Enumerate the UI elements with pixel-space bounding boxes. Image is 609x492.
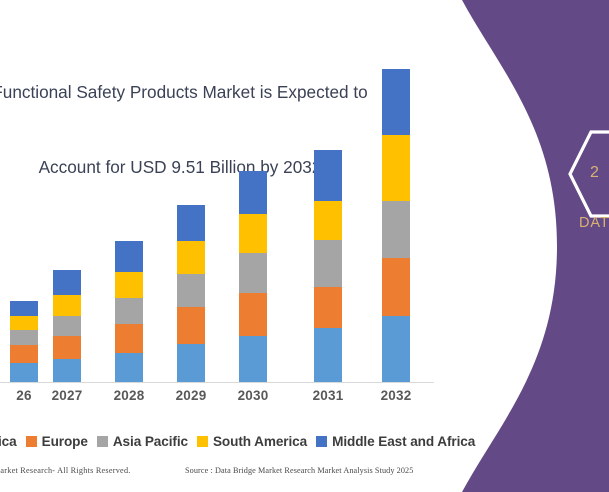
bar-segment[interactable]	[53, 316, 81, 337]
legend-item[interactable]: Asia Pacific	[97, 434, 188, 449]
brand-panel	[440, 0, 609, 492]
bar-column[interactable]	[10, 301, 38, 382]
legend-label: South America	[213, 434, 307, 449]
bar-segment[interactable]	[177, 344, 205, 382]
bar-segment[interactable]	[382, 69, 410, 135]
hexagon-outline-icon	[568, 128, 609, 220]
bar-segment[interactable]	[53, 359, 81, 382]
bar-segment[interactable]	[53, 295, 81, 316]
hexagon-badge: 2	[568, 128, 609, 220]
legend-label: Asia Pacific	[113, 434, 188, 449]
bar-segment[interactable]	[177, 205, 205, 241]
bar-segment[interactable]	[115, 241, 143, 272]
stacked-bar-chart: 26202720282029203020312032	[0, 100, 440, 385]
legend-swatch-icon	[197, 436, 208, 447]
bar-column[interactable]	[239, 171, 267, 382]
bar-column[interactable]	[177, 205, 205, 382]
chart-legend: icaEuropeAsia PacificSouth AmericaMiddle…	[0, 434, 442, 449]
bar-segment[interactable]	[239, 293, 267, 337]
bar-segment[interactable]	[10, 345, 38, 364]
bar-segment[interactable]	[115, 272, 143, 298]
bar-segment[interactable]	[382, 135, 410, 200]
infographic-canvas: Global Func Market, By 2 DAT Functional …	[0, 0, 609, 492]
bar-segment[interactable]	[10, 301, 38, 316]
bar-segment[interactable]	[115, 298, 143, 324]
bar-segment[interactable]	[314, 150, 342, 201]
bar-segment[interactable]	[10, 363, 38, 382]
legend-item[interactable]: Europe	[26, 434, 88, 449]
bar-column[interactable]	[314, 150, 342, 382]
x-axis-label: 2032	[366, 388, 426, 403]
x-axis-label: 2027	[37, 388, 97, 403]
bar-segment[interactable]	[177, 307, 205, 343]
bar-segment[interactable]	[53, 270, 81, 295]
x-axis-label: 2028	[99, 388, 159, 403]
bar-segment[interactable]	[314, 328, 342, 382]
footer-source: Source : Data Bridge Market Research Mar…	[185, 466, 413, 475]
bar-segment[interactable]	[53, 336, 81, 359]
legend-label: ica	[0, 434, 17, 449]
x-axis-label: 2031	[298, 388, 358, 403]
purple-panel-shape	[440, 0, 609, 492]
legend-swatch-icon	[316, 436, 327, 447]
bar-column[interactable]	[382, 69, 410, 382]
legend-item[interactable]: ica	[0, 434, 17, 449]
bar-segment[interactable]	[382, 258, 410, 316]
bar-segment[interactable]	[239, 214, 267, 253]
x-axis-label: 2029	[161, 388, 221, 403]
bar-column[interactable]	[115, 241, 143, 382]
legend-item[interactable]: South America	[197, 434, 307, 449]
bar-segment[interactable]	[10, 330, 38, 345]
footer-copyright: dge Market Research- All Rights Reserved…	[0, 466, 131, 475]
bar-segment[interactable]	[115, 353, 143, 382]
bar-segment[interactable]	[177, 241, 205, 274]
bar-segment[interactable]	[239, 253, 267, 292]
legend-label: Middle East and Africa	[332, 434, 475, 449]
hexagon-year-label: 2	[590, 164, 599, 182]
x-axis-label: 2030	[223, 388, 283, 403]
bar-segment[interactable]	[382, 201, 410, 258]
bar-segment[interactable]	[177, 274, 205, 307]
legend-swatch-icon	[97, 436, 108, 447]
bar-segment[interactable]	[314, 201, 342, 240]
bar-segment[interactable]	[314, 287, 342, 328]
chart-plot-area	[0, 100, 440, 382]
x-axis-tick-labels: 26202720282029203020312032	[0, 388, 440, 410]
bar-segment[interactable]	[239, 336, 267, 382]
bar-segment[interactable]	[382, 316, 410, 382]
bar-segment[interactable]	[10, 316, 38, 331]
legend-swatch-icon	[26, 436, 37, 447]
bar-segment[interactable]	[115, 324, 143, 353]
bar-segment[interactable]	[239, 171, 267, 215]
brand-wordmark: DAT	[579, 215, 609, 231]
bar-segment[interactable]	[314, 240, 342, 287]
legend-label: Europe	[42, 434, 88, 449]
legend-item[interactable]: Middle East and Africa	[316, 434, 475, 449]
x-axis-line	[0, 382, 434, 383]
bar-column[interactable]	[53, 270, 81, 382]
